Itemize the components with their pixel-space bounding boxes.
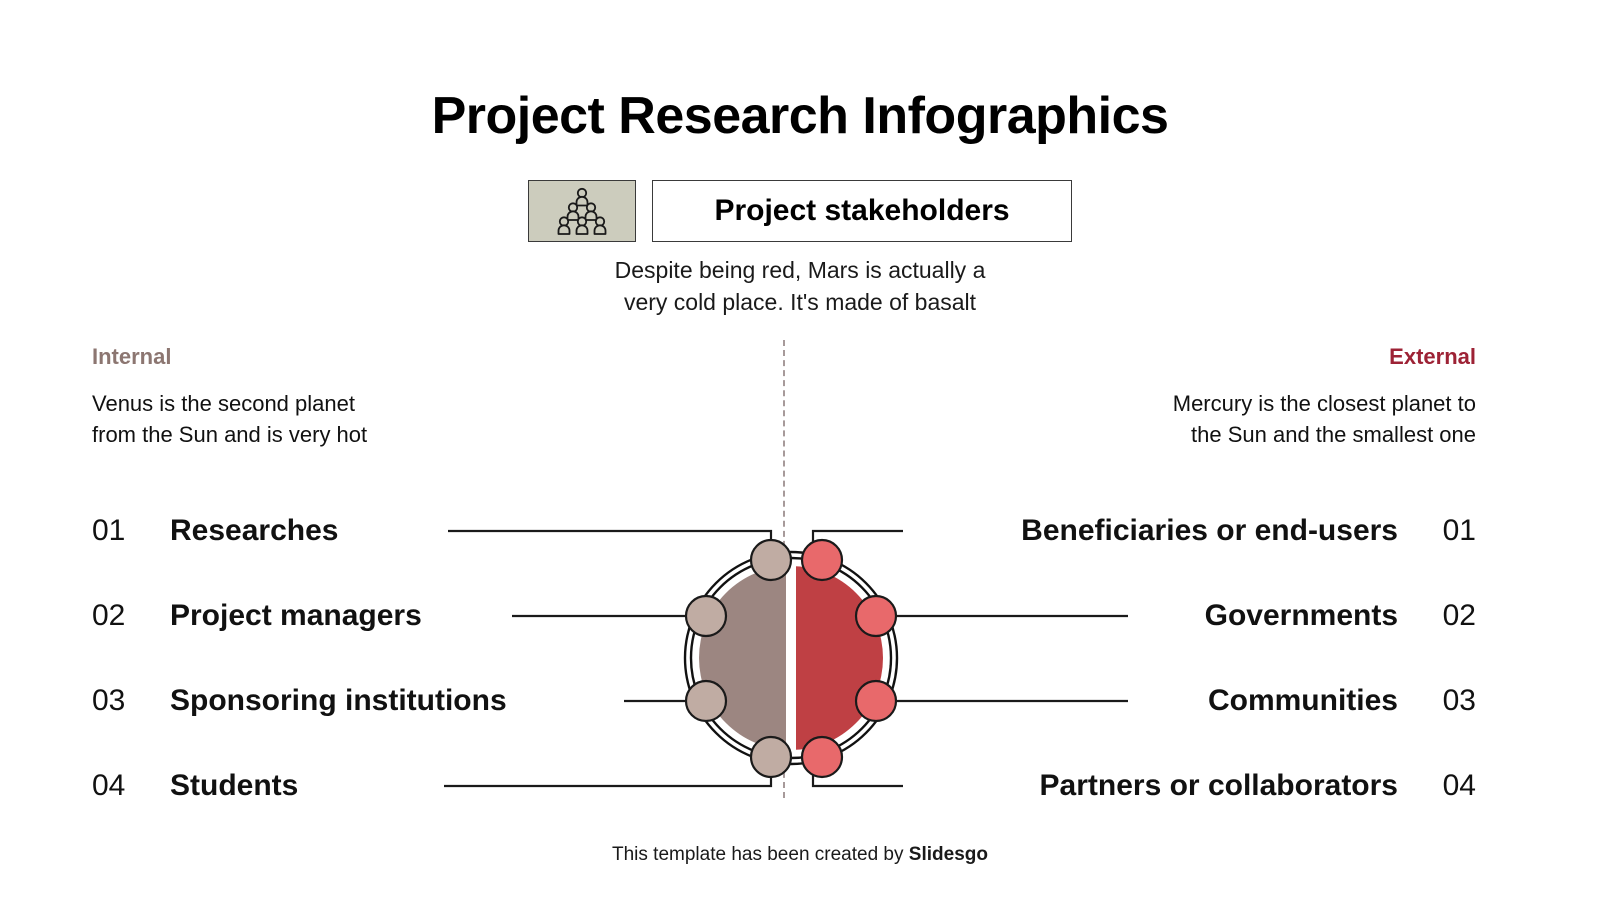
list-item-internal-04[interactable]: 04 Students	[92, 763, 298, 809]
diagram-dot-external-01	[802, 540, 842, 580]
subtitle-line-2: very cold place. It's made of basalt	[0, 287, 1600, 319]
diagram-half-internal	[699, 566, 791, 750]
diagram-dot-internal-02	[686, 596, 726, 636]
connector-right-04	[813, 757, 903, 786]
internal-02-label: Project managers	[170, 599, 422, 633]
slide-canvas: Project Research Infographics	[0, 0, 1600, 900]
internal-04-label: Students	[170, 769, 298, 803]
external-01-number: 01	[1412, 514, 1476, 548]
external-desc-line-1: Mercury is the closest planet to	[1046, 388, 1476, 419]
internal-desc-line-2: from the Sun and is very hot	[92, 419, 512, 450]
diagram-half-gap	[786, 562, 796, 754]
list-item-internal-02[interactable]: 02 Project managers	[92, 593, 422, 639]
external-02-number: 02	[1412, 599, 1476, 633]
diagram-dot-internal-01	[751, 540, 791, 580]
people-group-pyramid-icon	[528, 180, 636, 242]
diagram-dot-internal-04	[751, 737, 791, 777]
section-badge: Project stakeholders	[0, 180, 1600, 242]
external-03-label: Communities	[1208, 684, 1398, 718]
column-description-external: Mercury is the closest planet to the Sun…	[1046, 388, 1476, 450]
list-item-internal-03[interactable]: 03 Sponsoring institutions	[92, 678, 507, 724]
diagram-ring-inner	[691, 558, 891, 758]
diagram-ring-outer	[685, 552, 897, 764]
internal-04-number: 04	[92, 769, 156, 803]
internal-03-number: 03	[92, 684, 156, 718]
internal-desc-line-1: Venus is the second planet	[92, 388, 512, 419]
center-dashed-divider	[783, 340, 785, 798]
list-item-external-03[interactable]: Communities 03	[1208, 678, 1476, 724]
footer-credit-text: This template has been created by	[612, 844, 909, 865]
connector-left-01	[448, 531, 771, 560]
list-item-external-02[interactable]: Governments 02	[1205, 593, 1476, 639]
connector-right-01	[813, 531, 903, 560]
section-subtitle: Despite being red, Mars is actually a ve…	[0, 255, 1600, 318]
internal-01-label: Researches	[170, 514, 338, 548]
external-04-number: 04	[1412, 769, 1476, 803]
section-badge-label: Project stakeholders	[714, 194, 1009, 228]
column-heading-external: External	[1389, 344, 1476, 370]
diagram-half-external	[791, 566, 883, 750]
column-description-internal: Venus is the second planet from the Sun …	[92, 388, 512, 450]
internal-01-number: 01	[92, 514, 156, 548]
external-desc-line-2: the Sun and the smallest one	[1046, 419, 1476, 450]
diagram-dot-external-02	[856, 596, 896, 636]
list-item-external-01[interactable]: Beneficiaries or end-users 01	[1021, 508, 1476, 554]
footer-brand: Slidesgo	[909, 844, 988, 865]
external-02-label: Governments	[1205, 599, 1398, 633]
list-item-internal-01[interactable]: 01 Researches	[92, 508, 338, 554]
diagram-dot-internal-03	[686, 681, 726, 721]
connector-left-04	[444, 757, 771, 786]
internal-02-number: 02	[92, 599, 156, 633]
subtitle-line-1: Despite being red, Mars is actually a	[0, 255, 1600, 287]
footer-credit: This template has been created by Slides…	[0, 844, 1600, 866]
external-01-label: Beneficiaries or end-users	[1021, 514, 1398, 548]
section-badge-label-box: Project stakeholders	[652, 180, 1072, 242]
external-03-number: 03	[1412, 684, 1476, 718]
column-heading-internal: Internal	[92, 344, 171, 370]
internal-03-label: Sponsoring institutions	[170, 684, 507, 718]
external-04-label: Partners or collaborators	[1040, 769, 1398, 803]
list-item-external-04[interactable]: Partners or collaborators 04	[1040, 763, 1476, 809]
diagram-dot-external-04	[802, 737, 842, 777]
diagram-dot-external-03	[856, 681, 896, 721]
page-title: Project Research Infographics	[0, 88, 1600, 145]
